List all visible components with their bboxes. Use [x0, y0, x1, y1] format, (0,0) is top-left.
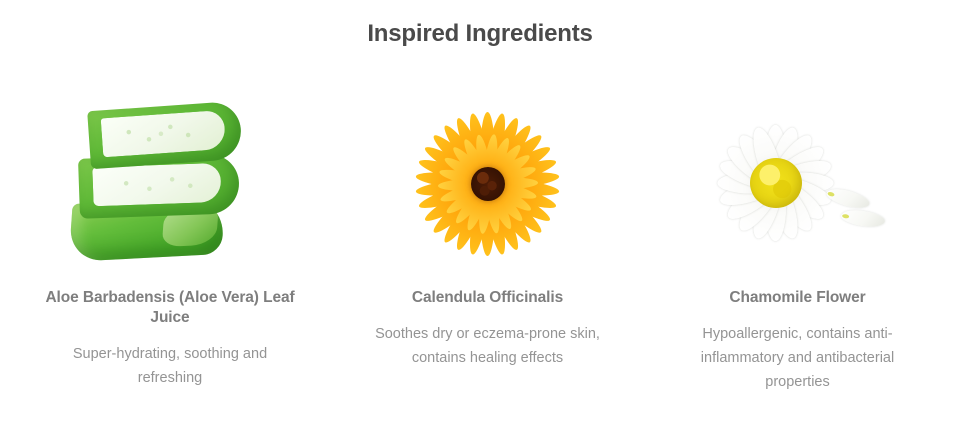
aloe-vera-image-wrapper	[20, 100, 320, 268]
ingredient-card-chamomile: Chamomile Flower Hypoallergenic, contain…	[635, 100, 960, 394]
chamomile-petals	[706, 113, 846, 253]
ingredient-description: Soothes dry or eczema-prone skin, contai…	[354, 322, 622, 370]
calendula-image-wrapper	[350, 100, 625, 268]
ingredient-description: Super-hydrating, soothing and refreshing	[44, 342, 296, 390]
ingredient-card-calendula: Calendula Officinalis Soothes dry or ecz…	[340, 100, 635, 370]
aloe-top-slice	[87, 101, 243, 169]
chamomile-image-wrapper	[647, 100, 948, 268]
calendula-flower-icon	[412, 109, 564, 259]
calendula-flower-center	[471, 167, 505, 201]
ingredient-name: Aloe Barbadensis (Aloe Vera) Leaf Juice	[34, 288, 306, 328]
chamomile-flower-center	[750, 158, 802, 208]
ingredient-name: Calendula Officinalis	[412, 288, 563, 308]
inspired-ingredients-section: Inspired Ingredients Aloe Barbadensis (A…	[0, 0, 960, 435]
aloe-vera-leaf-slices-icon	[65, 104, 275, 264]
ingredient-card-aloe-vera: Aloe Barbadensis (Aloe Vera) Leaf Juice …	[0, 100, 340, 390]
ingredients-columns: Aloe Barbadensis (Aloe Vera) Leaf Juice …	[0, 100, 960, 394]
chamomile-flower-icon	[698, 107, 898, 262]
chamomile-detached-petal	[840, 207, 886, 229]
page-title: Inspired Ingredients	[0, 18, 960, 50]
ingredient-name: Chamomile Flower	[729, 288, 865, 308]
ingredient-description: Hypoallergenic, contains anti-inflammato…	[673, 322, 923, 394]
